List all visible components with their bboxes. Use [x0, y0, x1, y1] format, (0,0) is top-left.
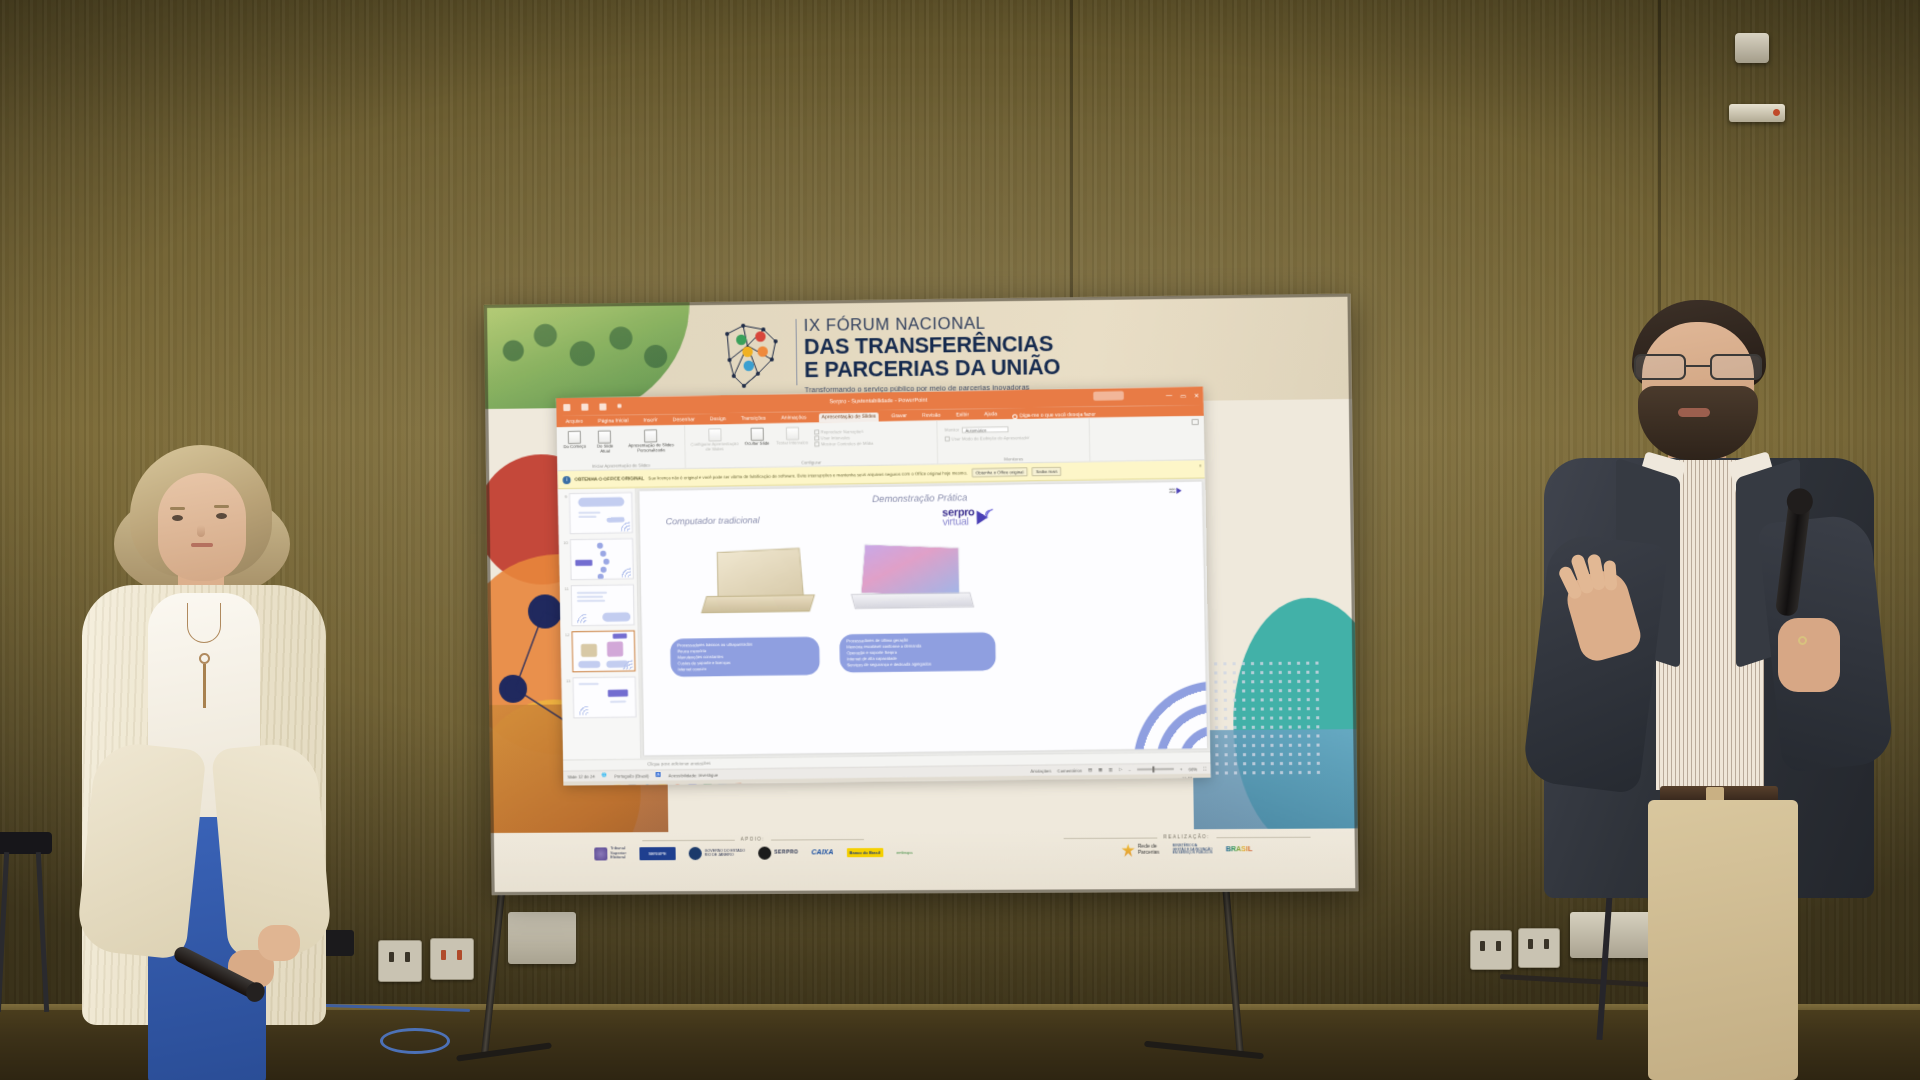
- wifi-icon: [618, 521, 630, 531]
- logo-rio-de-janeiro: GOVERNO DO ESTADO RIO DE JANEIRO: [688, 846, 745, 859]
- ribbon-group-label: Iniciar Apresentação de Slides: [557, 462, 685, 469]
- ribbon-group-configurar: Configurar Apresentação de Slides Oculta…: [685, 421, 938, 469]
- notes-button[interactable]: Anotações: [1030, 768, 1051, 773]
- projection-screen: IX FÓRUM NACIONAL DAS TRANSFERÊNCIAS E P…: [484, 294, 1358, 895]
- power-outlet: [1470, 930, 1512, 970]
- ribbon-item-configurar-apresentacao[interactable]: Configurar Apresentação de Slides: [690, 428, 739, 453]
- network-icon[interactable]: 📶: [1138, 779, 1144, 785]
- logo-caixa: CAIXA: [811, 849, 833, 856]
- slide-thumbnail-selected[interactable]: 12: [564, 630, 636, 672]
- wifi-decoration-icon: [1114, 675, 1207, 755]
- ribbon-item-ocultar-slide[interactable]: Ocultar Slide: [744, 427, 771, 446]
- notice-close-icon[interactable]: ×: [1199, 463, 1202, 469]
- ribbon-item-apresentacao-personalizada[interactable]: Apresentação de Slides Personalizada: [622, 429, 679, 454]
- motion-sensor-icon: [1729, 104, 1785, 122]
- onedrive-icon[interactable]: ☁: [1129, 780, 1133, 786]
- teams-icon[interactable]: [688, 783, 697, 785]
- ribbon-label: Usar Modo de Exibição do Apresentador: [951, 435, 1029, 441]
- checkbox-icon: [814, 430, 819, 435]
- brand-word-virtual: virtual: [942, 518, 974, 529]
- thumb-preview: [572, 630, 636, 672]
- tab-arquivo[interactable]: Arquivo: [562, 418, 586, 427]
- logo-label: embrapa: [896, 849, 912, 854]
- brazil-network-map-icon: [713, 315, 793, 394]
- logo-label: SERPRO: [774, 850, 798, 856]
- play-from-start-icon: [568, 431, 581, 444]
- necklace: [187, 603, 221, 643]
- necklace-pendant: [199, 653, 210, 664]
- deco-dot-pattern: [1202, 658, 1326, 780]
- accessibility-icon: ♿: [656, 772, 661, 778]
- slide-thumbnail[interactable]: 13: [564, 676, 636, 718]
- comments-button[interactable]: Comentários: [1057, 768, 1082, 773]
- system-tray[interactable]: 26°C Pred. ensolarado ^ ☁ 📶 🔊 ▮ POR 13:5…: [1075, 777, 1206, 785]
- zoom-level[interactable]: 66%: [1188, 766, 1197, 771]
- logo-rede-de-parcerias: Rede de Parcerias: [1121, 844, 1159, 857]
- logo-ministerio-gestao-inovacao: MINISTÉRIO DA GESTÃO E DA INOVAÇÃO EM SE…: [1173, 844, 1213, 855]
- collapse-ribbon-icon[interactable]: [1192, 419, 1199, 425]
- ribbon-label: Do Slide Atual: [597, 443, 613, 453]
- chevron-up-icon[interactable]: ^: [1123, 780, 1125, 785]
- ppt-workspace: 9 10: [558, 479, 1210, 760]
- notice-headline: OBTENHA O OFFICE ORIGINAL: [575, 476, 645, 482]
- chrome-icon[interactable]: [673, 784, 682, 786]
- conference-photo-scene: IX FÓRUM NACIONAL DAS TRANSFERÊNCIAS E P…: [0, 0, 1920, 1080]
- custom-show-icon: [644, 429, 657, 442]
- reading-view-icon[interactable]: ▥: [1109, 767, 1113, 773]
- sorter-view-icon[interactable]: ▦: [1098, 767, 1102, 773]
- weather-readout[interactable]: 26°C Pred. ensolarado: [1075, 780, 1119, 785]
- slide-thumbnail[interactable]: 10: [562, 538, 634, 580]
- mic-hand: [1778, 618, 1840, 692]
- mouth: [1678, 408, 1710, 417]
- logo-label: Tribunal Superior Eleitoral: [610, 846, 626, 860]
- current-slide[interactable]: Demonstração Prática Computador tradicio…: [639, 482, 1207, 756]
- fit-slide-icon[interactable]: ⛶: [1203, 766, 1206, 771]
- ribbon-item-do-comeco[interactable]: Do Começo: [562, 431, 588, 450]
- projection-screen-assembly: IX FÓRUM NACIONAL DAS TRANSFERÊNCIAS E P…: [484, 305, 1354, 920]
- wifi-icon: [619, 567, 631, 577]
- thumb-number: 10: [562, 539, 568, 545]
- tab-gravar[interactable]: Gravar: [888, 412, 910, 421]
- powerpoint-window[interactable]: Serpro - Sustentabilidade - PowerPoint —…: [556, 387, 1211, 786]
- wedding-ring: [1798, 636, 1807, 645]
- excel-icon[interactable]: [703, 783, 712, 785]
- restore-icon[interactable]: ▭: [1180, 392, 1186, 399]
- volume-icon[interactable]: 🔊: [1147, 779, 1153, 785]
- power-outlet: [430, 938, 474, 980]
- wifi-icon: [576, 705, 588, 715]
- banner-crowd-photo: [484, 296, 691, 409]
- logo-embrapa: embrapa: [896, 849, 912, 854]
- sponsors-strip: APOIO: Tribunal Superior Eleitoral SERGI…: [491, 828, 1359, 895]
- trousers: [1648, 800, 1798, 1080]
- logo-tribunal-superior-eleitoral: Tribunal Superior Eleitoral: [594, 846, 626, 860]
- sponsors-support-block: APOIO: Tribunal Superior Eleitoral SERGI…: [594, 836, 913, 861]
- banner-title-line2: E PARCERIAS DA UNIÃO: [804, 356, 1060, 382]
- hand: [258, 925, 300, 961]
- hide-slide-icon: [750, 428, 763, 441]
- tab-ajuda[interactable]: Ajuda: [981, 410, 1000, 419]
- window-controls[interactable]: — ▭ ✕: [1166, 392, 1199, 400]
- sponsors-support-label: APOIO:: [741, 837, 765, 842]
- banner-text-block: IX FÓRUM NACIONAL DAS TRANSFERÊNCIAS E P…: [804, 314, 1061, 394]
- power-outlet: [378, 940, 422, 982]
- wifi-icon: [620, 659, 632, 669]
- ribbon-check-modo-apresentador[interactable]: Usar Modo de Exibição do Apresentador: [945, 434, 1084, 441]
- globe-icon: 🌐: [602, 773, 607, 779]
- status-right-group[interactable]: Anotações Comentários ▤ ▦ ▥ ▷ − + 66% ⛶: [1030, 766, 1206, 774]
- ribbon-check-usar-intervalos[interactable]: Usar Intervalos: [814, 435, 873, 441]
- banner-divider: [796, 319, 798, 385]
- monitor-select[interactable]: Automático: [962, 426, 1009, 433]
- wifi-icon: [574, 613, 586, 623]
- slide-thumbnail-panel[interactable]: 9 10: [558, 488, 641, 760]
- beard: [1638, 386, 1758, 460]
- notice-primary-button[interactable]: Obtenha o Office original: [971, 467, 1027, 477]
- slide-bullets-left: Processadores básicos ou ultrapassados P…: [670, 637, 820, 677]
- checkbox-icon: [945, 437, 950, 442]
- slide-left-label: Computador tradicional: [666, 515, 760, 527]
- slide-counter: Slide 12 de 24: [567, 774, 595, 779]
- tab-inserir[interactable]: Inserir: [640, 416, 660, 425]
- thumb-preview: [570, 538, 634, 580]
- play-mark-icon: [976, 509, 993, 525]
- checkbox-icon: [814, 442, 819, 447]
- zoom-slider[interactable]: [1137, 768, 1174, 770]
- cable-coil: [380, 1028, 450, 1054]
- logo-serpro: SERPRO: [758, 846, 798, 859]
- virtual-laptop-image: [852, 544, 973, 616]
- ribbon-label: Do Começo: [563, 444, 586, 449]
- status-accessibility[interactable]: Acessibilidade: Investigue: [668, 772, 718, 778]
- monitor-field-label: Monitor: [945, 428, 960, 433]
- smoke-detector-icon: [1735, 33, 1769, 63]
- status-language[interactable]: Português (Brasil): [614, 773, 649, 778]
- rehearse-timings-icon: [785, 427, 798, 440]
- sponsors-realization-label: REALIZAÇÃO:: [1163, 834, 1210, 839]
- ribbon-item-testar-intervalos[interactable]: Testar Intervalos: [775, 427, 810, 447]
- ribbon-label: Reproduzir Narrações: [821, 429, 864, 435]
- play-mark-icon: [1176, 487, 1183, 494]
- account-sign-in-button[interactable]: [1093, 391, 1124, 401]
- monitor-select-value: Automático: [965, 428, 986, 433]
- sponsors-realization-block: REALIZAÇÃO: Rede de Parcerias MINISTÉRIO…: [1121, 834, 1252, 857]
- thumb-preview: [569, 492, 633, 534]
- tab-design[interactable]: Design: [707, 415, 729, 424]
- logo-label: Banco do Brasil: [846, 848, 883, 857]
- logo-label: GOVERNO DO ESTADO RIO DE JANEIRO: [705, 849, 746, 857]
- logo-banco-do-brasil: Banco do Brasil: [846, 848, 883, 857]
- ribbon-group-iniciar: Do Começo Do Slide Atual Apresentação de…: [557, 425, 686, 470]
- sponsors-support-logos: Tribunal Superior Eleitoral SERGIPE GOVE…: [594, 845, 912, 861]
- thumb-number: 11: [563, 585, 569, 591]
- necklace-drop: [203, 664, 206, 708]
- tab-exibir[interactable]: Exibir: [953, 411, 972, 420]
- glasses: [1634, 354, 1762, 380]
- ribbon-item-do-slide-atual[interactable]: Do Slide Atual: [592, 430, 618, 454]
- info-icon: i: [563, 475, 571, 483]
- logo-label: BRASIL: [1226, 846, 1253, 853]
- input-language[interactable]: POR: [1163, 780, 1173, 785]
- slide-thumbnail[interactable]: 9: [561, 492, 633, 534]
- slide-title: Demonstração Prática: [872, 493, 967, 506]
- thumb-preview: [572, 676, 636, 718]
- slide-thumbnail[interactable]: 11: [563, 584, 635, 626]
- deco-node-navy: [528, 594, 562, 628]
- checkbox-icon: [814, 436, 819, 441]
- ribbon-label: Ocultar Slide: [744, 441, 769, 446]
- tab-revisao[interactable]: Revisão: [919, 411, 944, 420]
- thumb-number: 13: [564, 677, 570, 683]
- slide-bullets-right: Processadores de última geração Memória …: [839, 632, 996, 672]
- logo-governo-federal: BRASIL: [1226, 846, 1253, 853]
- ribbon-label: Usar Intervalos: [821, 435, 850, 441]
- normal-view-icon[interactable]: ▤: [1088, 767, 1092, 773]
- thumb-number: 12: [564, 631, 570, 637]
- presenter-left: [52, 445, 362, 1080]
- play-from-current-icon: [598, 430, 611, 443]
- arm: [75, 740, 206, 960]
- ribbon-label: Mostrar Controles de Mídia: [821, 441, 873, 447]
- logo-label: SERGIPE: [648, 851, 666, 856]
- logo-label: CAIXA: [811, 849, 833, 856]
- ribbon-group-monitores: Monitor Automático Usar Modo de Exibição…: [937, 418, 1090, 464]
- thumb-number: 9: [561, 493, 567, 499]
- ribbon-check-mostrar-controles-midia[interactable]: Mostrar Controles de Mídia: [814, 441, 873, 447]
- traditional-laptop-image: [703, 548, 813, 616]
- ribbon-label: Testar Intervalos: [776, 440, 808, 446]
- notice-secondary-button[interactable]: Saiba mais: [1032, 467, 1062, 477]
- thumb-preview: [571, 584, 635, 626]
- chair-left: [0, 832, 54, 1032]
- lightbulb-icon: [1013, 414, 1018, 419]
- notice-text: Sua licença não é original e você pode s…: [648, 470, 967, 481]
- deco-node-navy: [499, 675, 527, 703]
- powerpoint-icon[interactable]: [733, 783, 742, 786]
- ribbon-check-reproduzir-narracoes[interactable]: Reproduzir Narrações: [814, 429, 873, 435]
- ribbon-label: Apresentação de Slides Personalizada: [628, 442, 674, 453]
- zoom-in-icon[interactable]: +: [1180, 766, 1183, 771]
- slide-canvas-area[interactable]: Demonstração Prática Computador tradicio…: [636, 479, 1210, 759]
- sponsors-realization-logos: Rede de Parcerias MINISTÉRIO DA GESTÃO E…: [1121, 843, 1252, 857]
- presenter-right: [1520, 300, 1920, 1080]
- close-icon[interactable]: ✕: [1194, 392, 1199, 399]
- ribbon-label: Configurar Apresentação de Slides: [691, 441, 739, 452]
- logo-label: Rede de Parcerias: [1138, 844, 1160, 855]
- serpro-virtual-logo: serpro virtual: [942, 507, 993, 528]
- serpro-virtual-logo-small: serpro virtual: [1169, 487, 1184, 495]
- slideshow-icon[interactable]: ▷: [1119, 767, 1122, 773]
- store-icon[interactable]: [718, 783, 727, 785]
- logo-label: MINISTÉRIO DA GESTÃO E DA INOVAÇÃO EM SE…: [1173, 844, 1213, 855]
- brand-word-virtual: virtual: [1169, 491, 1176, 494]
- minimize-icon[interactable]: —: [1166, 393, 1172, 399]
- zoom-out-icon[interactable]: −: [1128, 767, 1131, 772]
- setup-show-icon: [708, 428, 721, 441]
- battery-icon[interactable]: ▮: [1157, 779, 1160, 785]
- logo-sergipe: SERGIPE: [639, 847, 675, 860]
